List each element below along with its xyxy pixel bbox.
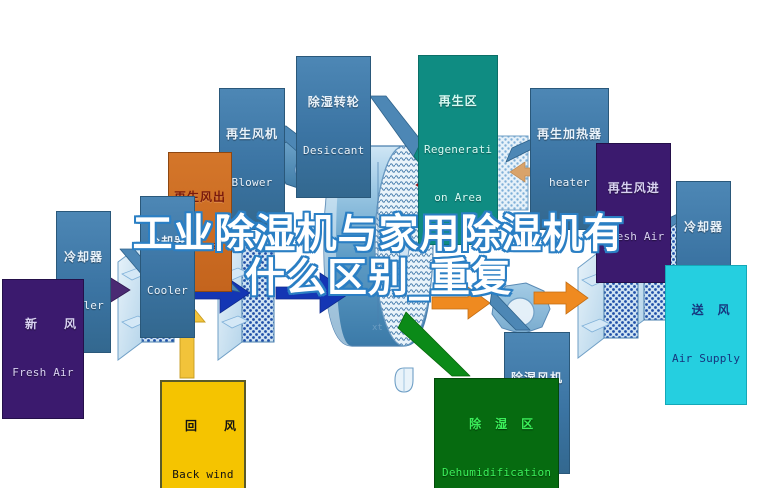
label-air-supply-en: Air Supply [672,353,740,365]
label-regeneration-blower-cn: 再生风机 [226,128,278,141]
label-regeneration-fresh-air-cn: 再生风进 [603,182,664,195]
svg-text:xt: xt [372,323,383,333]
label-desiccant-rotor[interactable]: 除湿转轮 Desiccant [296,56,371,198]
label-air-supply[interactable]: 送 风 Air Supply [665,265,747,405]
label-desiccant-rotor-cn: 除湿转轮 [303,96,364,109]
label-regeneration-fresh-air[interactable]: 再生风进 Fresh Air [596,143,671,283]
label-back-wind-cn: 回 风 [169,420,237,433]
label-regeneration-heater-en: heater [537,177,602,189]
label-regeneration-area[interactable]: 再生区 Regenerati on Area [418,55,498,245]
label-regeneration-area-cn: 再生区 [424,95,492,108]
label-cooler-left-b-en: Cooler [147,285,188,297]
label-regeneration-heater-cn: 再生加热器 [537,128,602,141]
label-regeneration-blower-en: Blower [226,177,278,189]
label-cooler-left-b-cn: 冷却器 [147,236,188,249]
dry-air-arrow-1 [432,287,490,319]
label-fresh-air-cn: 新 风 [9,318,77,331]
label-regeneration-fresh-air-en: Fresh Air [603,231,664,243]
diagram-canvas: xt [0,0,757,488]
condensate-drain [395,368,413,392]
label-cooler-left-b[interactable]: 冷却器 Cooler [140,196,195,338]
label-desiccant-rotor-en: Desiccant [303,145,364,157]
label-dehumidification-district-cn: 除 湿 区 [442,418,551,431]
label-dehumidification-district-en1: Dehumidification [442,467,551,479]
label-regeneration-area-en1: Regenerati [424,144,492,156]
label-fresh-air[interactable]: 新 风 Fresh Air [2,279,84,419]
label-back-wind-en: Back wind [169,469,237,481]
label-fresh-air-en: Fresh Air [9,367,77,379]
label-air-supply-cn: 送 风 [672,304,740,317]
label-cooler-right-cn: 冷却器 [683,221,724,234]
label-back-wind[interactable]: 回 风 Back wind [160,380,246,488]
label-dehumidification-district[interactable]: 除 湿 区 Dehumidification District [434,378,559,488]
label-regeneration-area-en2: on Area [424,192,492,204]
label-cooler-left-a-cn: 冷却器 [63,251,104,264]
